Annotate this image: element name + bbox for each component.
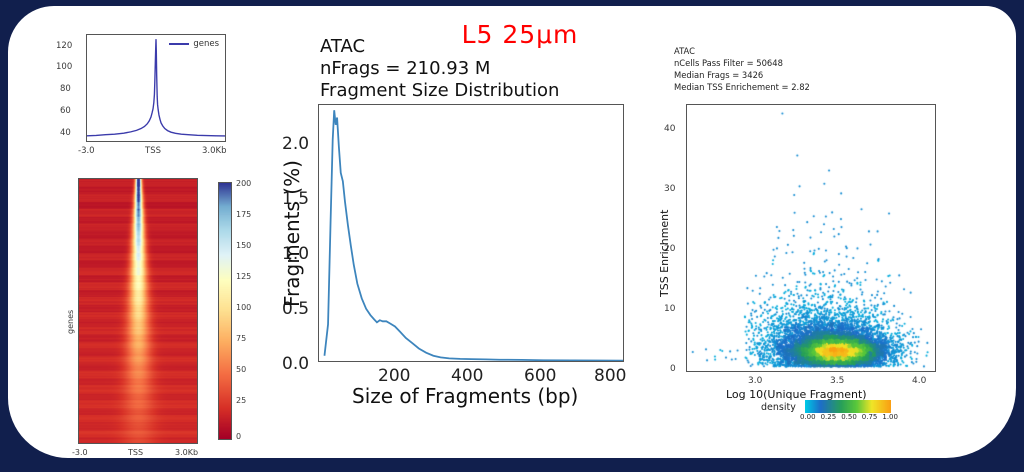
tss-profile-axes: genes — [86, 34, 226, 142]
slide-background: L5 25μm genes 40 60 80 100 120 -3.0 TSS … — [0, 0, 1024, 472]
frag-ytick-20: 2.0 — [282, 134, 309, 154]
frag-annot-heading: Fragment Size Distribution — [320, 80, 559, 102]
sc-annot-medtss: Median TSS Enrichement = 2.82 — [674, 82, 810, 93]
heatmap-xtick-plus3kb: 3.0Kb — [175, 448, 198, 457]
frag-xtick-800: 800 — [594, 366, 626, 386]
cbar-tick-100: 100 — [236, 303, 251, 312]
ytick-120: 120 — [56, 41, 72, 51]
density-tick-000: 0.00 — [800, 413, 816, 421]
cbar-tick-75: 75 — [236, 334, 246, 343]
tss-scatter-axes — [686, 104, 936, 372]
sc-ytick-40: 40 — [664, 124, 675, 134]
ytick-40: 40 — [60, 128, 71, 138]
density-tick-100: 1.00 — [882, 413, 898, 421]
xtick-tss: TSS — [145, 146, 161, 156]
tss-heatmap-plot: genes -3.0 TSS 3.0Kb gene distance (bp) … — [56, 174, 246, 458]
cbar-tick-25: 25 — [236, 396, 246, 405]
legend-line-swatch — [169, 43, 189, 45]
colorbar-gradient — [219, 183, 231, 439]
density-colorbar-ticks: 0.00 0.25 0.50 0.75 1.00 — [800, 413, 898, 421]
xtick-plus3kb: 3.0Kb — [202, 146, 227, 156]
sc-annot-ncells: nCells Pass Filter = 50648 — [674, 58, 783, 69]
density-tick-025: 0.25 — [821, 413, 837, 421]
sc-xtick-30: 3.0 — [748, 376, 762, 386]
ytick-80: 80 — [60, 84, 71, 94]
ytick-60: 60 — [60, 106, 71, 116]
tss-heatmap-axes — [78, 178, 198, 444]
frag-xtick-600: 600 — [524, 366, 556, 386]
sc-xtick-40: 4.0 — [912, 376, 926, 386]
frag-xlabel: Size of Fragments (bp) — [352, 384, 578, 408]
cbar-tick-175: 175 — [236, 210, 251, 219]
frag-annot-atac: ATAC — [320, 36, 365, 58]
fragment-size-curve — [319, 105, 623, 361]
density-colorbar — [805, 400, 891, 413]
heatmap-xtick-minus3: -3.0 — [72, 448, 88, 457]
sc-annot-medfrags: Median Frags = 3426 — [674, 70, 763, 81]
cbar-tick-200: 200 — [236, 179, 251, 188]
sc-annot-atac: ATAC — [674, 46, 695, 57]
legend-label-genes: genes — [193, 39, 219, 49]
tss-heatmap-image — [79, 179, 197, 443]
sc-ytick-30: 30 — [664, 184, 675, 194]
tss-scatter-plot: ATAC nCells Pass Filter = 50648 Median F… — [648, 32, 1016, 432]
frag-ytick-0: 0.0 — [282, 354, 309, 374]
tss-profile-legend: genes — [169, 39, 219, 49]
density-legend-label: density — [761, 402, 796, 413]
sc-ylabel: TSS Enrichment — [658, 210, 671, 297]
density-tick-075: 0.75 — [862, 413, 878, 421]
heatmap-ylabel: genes — [66, 310, 75, 334]
tss-scatter-points — [687, 105, 937, 373]
cbar-tick-150: 150 — [236, 241, 251, 250]
tss-profile-plot: genes 40 60 80 100 120 -3.0 TSS 3.0Kb — [56, 28, 236, 168]
sc-ytick-0: 0 — [670, 364, 676, 374]
sc-ytick-10: 10 — [664, 304, 675, 314]
slide-white-panel: L5 25μm genes 40 60 80 100 120 -3.0 TSS … — [8, 6, 1016, 458]
frag-xtick-400: 400 — [451, 366, 483, 386]
density-tick-050: 0.50 — [841, 413, 857, 421]
xtick-minus3: -3.0 — [78, 146, 95, 156]
cbar-tick-0: 0 — [236, 432, 241, 441]
ytick-100: 100 — [56, 62, 72, 72]
heatmap-xtick-tss: TSS — [128, 448, 143, 457]
frag-ylabel: Fragments (%) — [280, 160, 304, 307]
fragment-size-axes — [318, 104, 624, 362]
cbar-tick-50: 50 — [236, 365, 246, 374]
heatmap-colorbar — [218, 182, 232, 440]
frag-xtick-200: 200 — [378, 366, 410, 386]
cbar-tick-125: 125 — [236, 272, 251, 281]
frag-annot-nfrags: nFrags = 210.93 M — [320, 58, 490, 80]
sc-xtick-35: 3.5 — [830, 376, 844, 386]
tss-profile-curve — [87, 35, 225, 141]
fragment-size-plot: ATAC nFrags = 210.93 M Fragment Size Dis… — [266, 32, 636, 412]
